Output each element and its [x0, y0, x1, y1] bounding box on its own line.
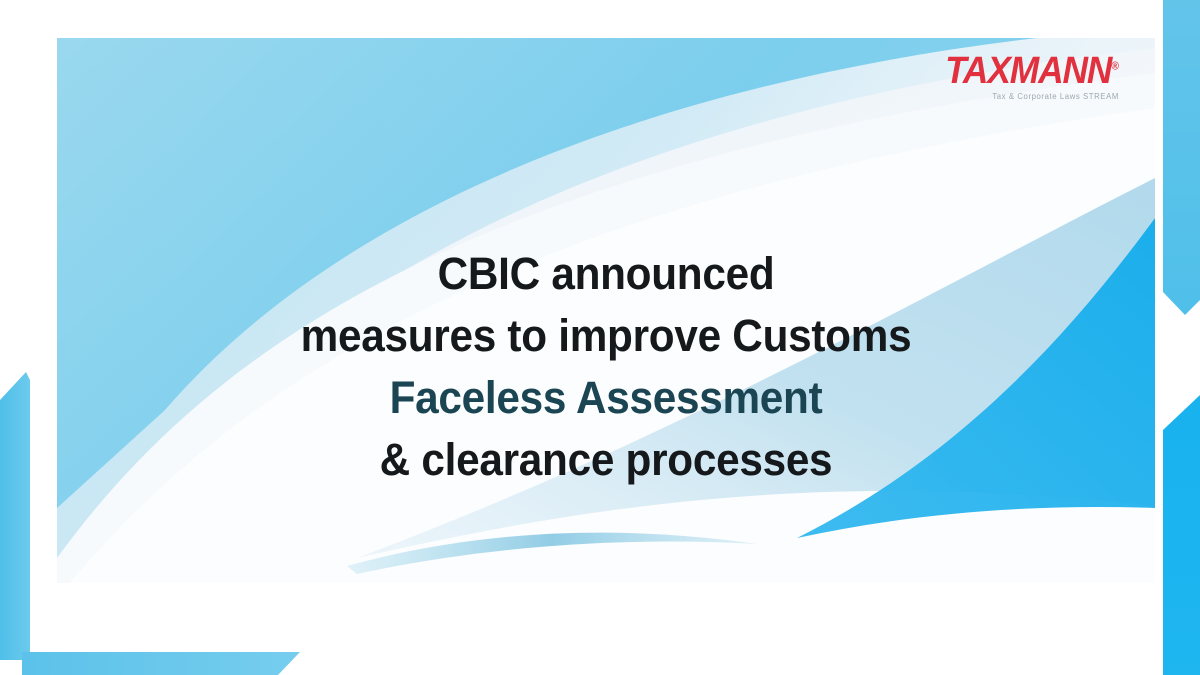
headline-block: CBIC announced measures to improve Custo…: [57, 243, 1155, 491]
bottom-left-bar-shape: [22, 652, 300, 675]
logo-tagline: Tax & Corporate Laws STREAM: [938, 93, 1119, 101]
headline-line-4: & clearance processes: [90, 429, 1122, 491]
right-bottom-band-shape: [1163, 395, 1200, 675]
right-top-band-shape: [1163, 0, 1200, 315]
headline-line-2: measures to improve Customs: [90, 305, 1122, 367]
left-band-shape: [0, 372, 30, 660]
logo-wordmark-text: TAXMANN: [945, 50, 1111, 92]
bottom-white-band: [57, 583, 1155, 637]
card-inner-surface: TAXMANN® Tax & Corporate Laws STREAM CBI…: [57, 38, 1155, 637]
logo-wordmark: TAXMANN®: [945, 52, 1119, 90]
taxmann-logo: TAXMANN® Tax & Corporate Laws STREAM: [932, 52, 1119, 101]
content-card: TAXMANN® Tax & Corporate Laws STREAM CBI…: [40, 30, 1162, 645]
poster-canvas: TAXMANN® Tax & Corporate Laws STREAM CBI…: [0, 0, 1200, 675]
headline-line-1: CBIC announced: [90, 243, 1122, 305]
headline-line-3: Faceless Assessment: [90, 367, 1122, 429]
registered-mark-icon: ®: [1111, 60, 1119, 72]
